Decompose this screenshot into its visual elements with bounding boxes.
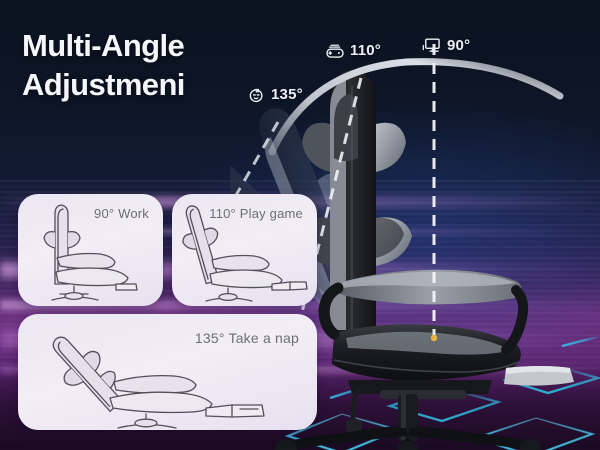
card-135-take-a-nap[interactable]: 135° Take a nap bbox=[18, 314, 317, 430]
promo-banner: Multi-Angle Adjustmeni 135° 110° 90° bbox=[0, 0, 600, 450]
gamepad-icon bbox=[325, 40, 345, 60]
card-90-label: 90° Work bbox=[94, 206, 149, 221]
sleep-face-icon bbox=[247, 85, 266, 104]
marker-90: 90° bbox=[422, 35, 470, 55]
title-line-1: Multi-Angle bbox=[22, 28, 184, 63]
card-110-play-game[interactable]: 110° Play game bbox=[172, 194, 317, 306]
marker-135: 135° bbox=[247, 85, 303, 104]
card-90-work[interactable]: 90° Work bbox=[18, 194, 163, 306]
monitor-icon bbox=[422, 35, 442, 55]
page-title: Multi-Angle Adjustmeni bbox=[22, 26, 282, 104]
marker-110-value: 110° bbox=[350, 42, 381, 59]
card-110-label: 110° Play game bbox=[209, 206, 303, 221]
callout-cards: 90° Work bbox=[0, 188, 330, 428]
title-line-2: Adjustmeni bbox=[22, 65, 282, 104]
marker-110: 110° bbox=[325, 40, 381, 60]
card-135-label: 135° Take a nap bbox=[195, 330, 299, 346]
marker-90-value: 90° bbox=[447, 37, 470, 54]
marker-135-value: 135° bbox=[271, 86, 303, 103]
